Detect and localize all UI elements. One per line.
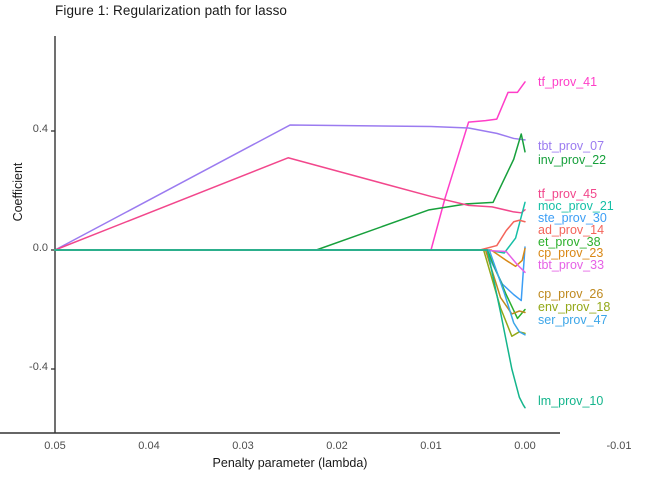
series-line-ser_prov_47: [55, 250, 525, 335]
x-tick-label: 0.00: [500, 440, 550, 452]
series-line-tf_prov_45: [55, 158, 525, 250]
series-line-moc_prov_21: [55, 202, 525, 253]
series-label-tbt_prov_33: tbt_prov_33: [538, 259, 604, 272]
y-tick-label: 0.0: [8, 242, 48, 254]
series-line-tf_prov_41: [55, 82, 525, 250]
series-label-env_prov_18: env_prov_18: [538, 301, 610, 314]
series-line-tbt_prov_07: [55, 125, 525, 250]
series-line-lm_prov_10: [55, 250, 525, 408]
series-line-ste_prov_30: [55, 247, 525, 301]
x-tick-label: 0.01: [406, 440, 456, 452]
x-tick-label: 0.02: [312, 440, 362, 452]
series-label-lm_prov_10: lm_prov_10: [538, 395, 603, 408]
series-line-cp_prov_26: [55, 250, 525, 314]
series-line-env_prov_18: [55, 250, 525, 336]
series-label-tf_prov_41: tf_prov_41: [538, 76, 597, 89]
series-line-cp_prov_23: [55, 249, 525, 267]
x-tick-label: 0.03: [218, 440, 268, 452]
x-tick-label: 0.04: [124, 440, 174, 452]
series-line-ad_prov_14: [55, 220, 525, 250]
x-tick-label: 0.05: [30, 440, 80, 452]
series-label-cp_prov_26: cp_prov_26: [538, 288, 603, 301]
y-axis-ticks: 0.40.0-0.4: [8, 0, 48, 480]
chart-root: Figure 1: Regularization path for lasso …: [0, 0, 672, 480]
series-label-tbt_prov_07: tbt_prov_07: [538, 140, 604, 153]
series-line-inv_prov_22: [55, 134, 525, 250]
series-label-inv_prov_22: inv_prov_22: [538, 154, 606, 167]
series-line-et_prov_38: [55, 250, 525, 318]
x-tick-label: -0.01: [594, 440, 644, 452]
series-label-ser_prov_47: ser_prov_47: [538, 314, 608, 327]
series-line-tbt_prov_33: [55, 250, 525, 272]
y-tick-label: 0.4: [8, 123, 48, 135]
y-tick-label: -0.4: [8, 361, 48, 373]
